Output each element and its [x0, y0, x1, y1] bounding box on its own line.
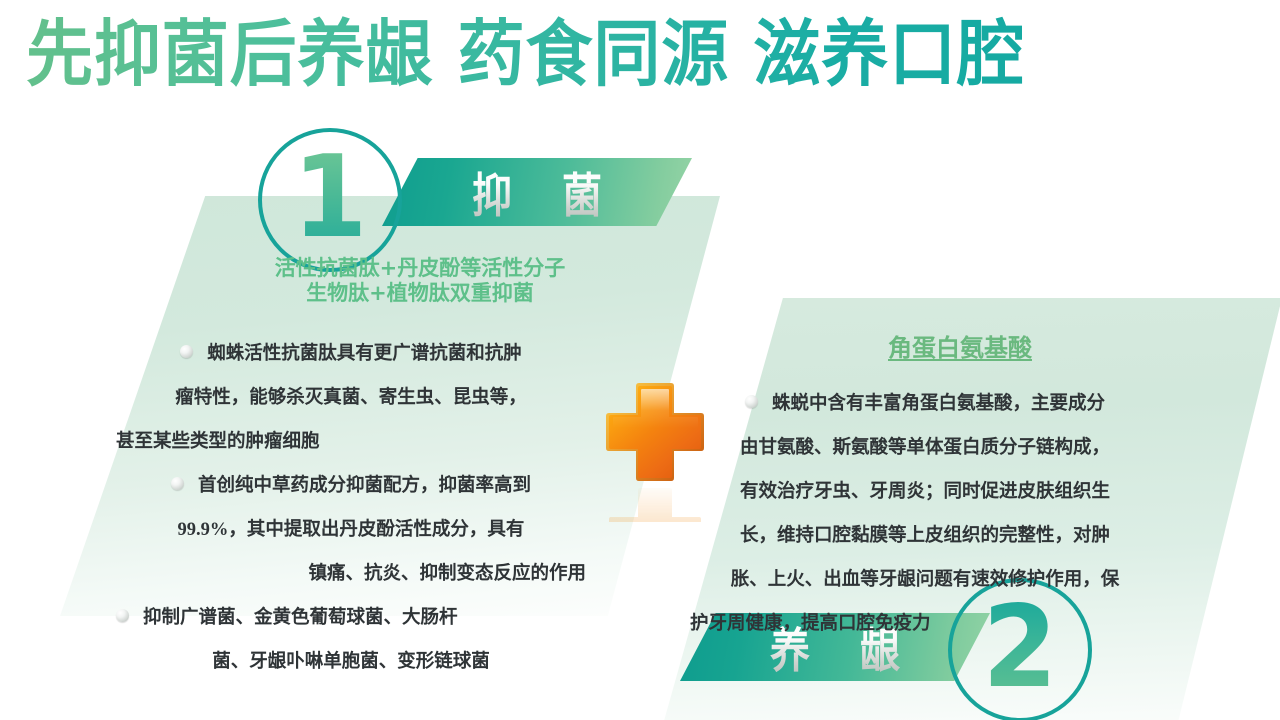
- list-item-cont: 菌、牙龈卟啉单胞菌、变形链球菌: [116, 640, 586, 684]
- list-item-cont: 镇痛、抗炎、抑制变态反应的作用: [116, 552, 586, 596]
- section-one-subtitle: 活性抗菌肽+丹皮酚等活性分子 生物肽+植物肽双重抑菌: [215, 256, 625, 306]
- section-one-number: 1: [292, 141, 367, 254]
- bullet-icon: [745, 395, 758, 408]
- list-item-text: 抑制广谱菌、金黄色葡萄球菌、大肠杆: [143, 608, 458, 628]
- section-two-body: 蛛蜕中含有丰富角蛋白氨基酸，主要成分 由甘氨酸、斯氨酸等单体蛋白质分子链构成， …: [690, 382, 1160, 646]
- list-item-cont: 有效治疗牙虫、牙周炎；同时促进皮肤组织生: [690, 470, 1160, 514]
- list-item: 蛛蜕中含有丰富角蛋白氨基酸，主要成分: [690, 382, 1160, 426]
- list-item: 蜘蛛活性抗菌肽具有更广谱抗菌和抗肿: [116, 332, 586, 376]
- list-item: 首创纯中草药成分抑菌配方，抑菌率高到: [116, 464, 586, 508]
- bullet-icon: [171, 477, 184, 490]
- section-one-body: 蜘蛛活性抗菌肽具有更广谱抗菌和抗肿 瘤特性，能够杀灭真菌、寄生虫、昆虫等， 甚至…: [116, 332, 586, 684]
- list-item-text: 蛛蜕中含有丰富角蛋白氨基酸，主要成分: [772, 394, 1105, 414]
- page-title: 先抑菌后养龈 药食同源 滋养口腔: [26, 8, 1142, 100]
- list-item-cont: 由甘氨酸、斯氨酸等单体蛋白质分子链构成，: [690, 426, 1160, 470]
- section-one-subtitle-line-1: 活性抗菌肽+丹皮酚等活性分子: [215, 256, 625, 281]
- slide-canvas: 先抑菌后养龈 药食同源 滋养口腔 抑 菌 养 龈 1 2 活性抗菌肽+丹皮酚等活…: [0, 0, 1280, 720]
- list-item-text: 首创纯中草药成分抑菌配方，抑菌率高到: [198, 476, 531, 496]
- section-one-number-badge: 1: [258, 128, 402, 272]
- plus-icon: [603, 380, 707, 484]
- list-item-cont: 99.9%，其中提取出丹皮酚活性成分，具有: [116, 508, 586, 552]
- list-item-cont: 甚至某些类型的肿瘤细胞: [116, 420, 586, 464]
- list-item-cont: 长，维持口腔黏膜等上皮组织的完整性，对肿: [690, 514, 1160, 558]
- section-two-heading: 角蛋白氨基酸: [790, 328, 1130, 363]
- list-item-cont: 瘤特性，能够杀灭真菌、寄生虫、昆虫等，: [116, 376, 586, 420]
- section-one-ribbon-label: 抑 菌: [454, 158, 620, 226]
- list-item-text: 蜘蛛活性抗菌肽具有更广谱抗菌和抗肿: [207, 344, 522, 364]
- section-one-subtitle-line-2: 生物肽+植物肽双重抑菌: [215, 281, 625, 306]
- bullet-icon: [180, 345, 193, 358]
- list-item: 抑制广谱菌、金黄色葡萄球菌、大肠杆: [116, 596, 586, 640]
- plus-icon-reflection: [603, 482, 707, 522]
- list-item-cont: 胀、上火、出血等牙龈问题有速效修护作用，保: [690, 558, 1160, 602]
- list-item-cont: 护牙周健康，提高口腔免疫力: [690, 602, 1160, 646]
- section-one-ribbon: 抑 菌: [382, 158, 692, 226]
- bullet-icon: [116, 609, 129, 622]
